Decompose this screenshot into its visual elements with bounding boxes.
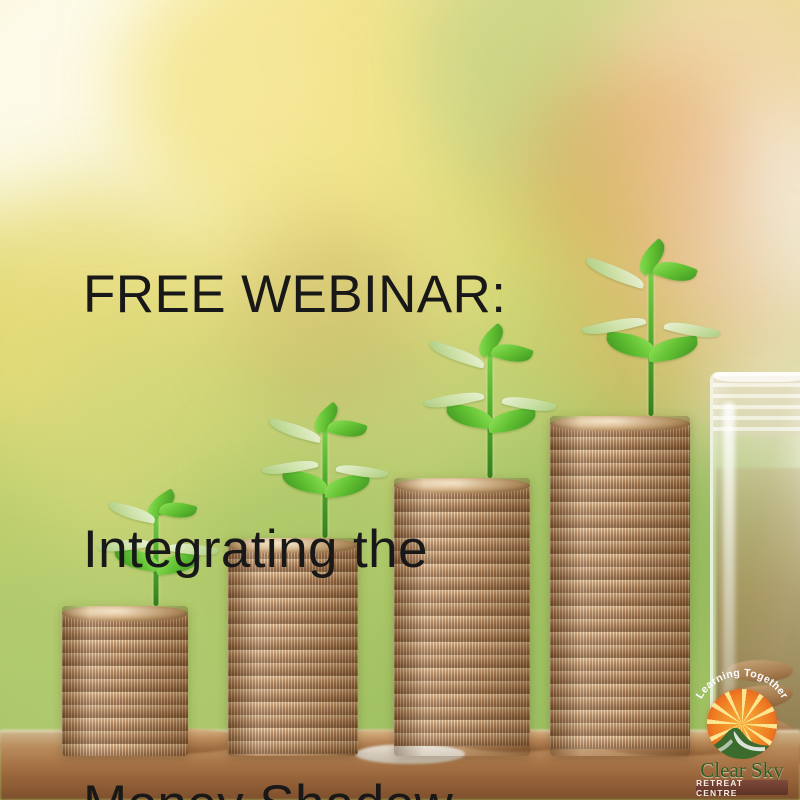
headline-line-1: FREE WEBINAR: xyxy=(83,252,603,337)
jar-rim xyxy=(713,372,800,382)
headline: FREE WEBINAR: Integrating the Money Shad… xyxy=(83,82,603,800)
plant-leaf xyxy=(647,335,699,362)
logo-subtitle: RETREAT CENTRE xyxy=(696,780,788,795)
promo-poster: FREE WEBINAR: Integrating the Money Shad… xyxy=(0,0,800,800)
plant-stem xyxy=(649,254,654,416)
headline-line-3: Money Shadow xyxy=(83,762,603,800)
headline-line-2: Integrating the xyxy=(83,507,603,592)
mountain-icon xyxy=(707,722,777,759)
clear-sky-logo[interactable]: Learning Together Clear Sky RETREAT CENT… xyxy=(688,668,796,796)
